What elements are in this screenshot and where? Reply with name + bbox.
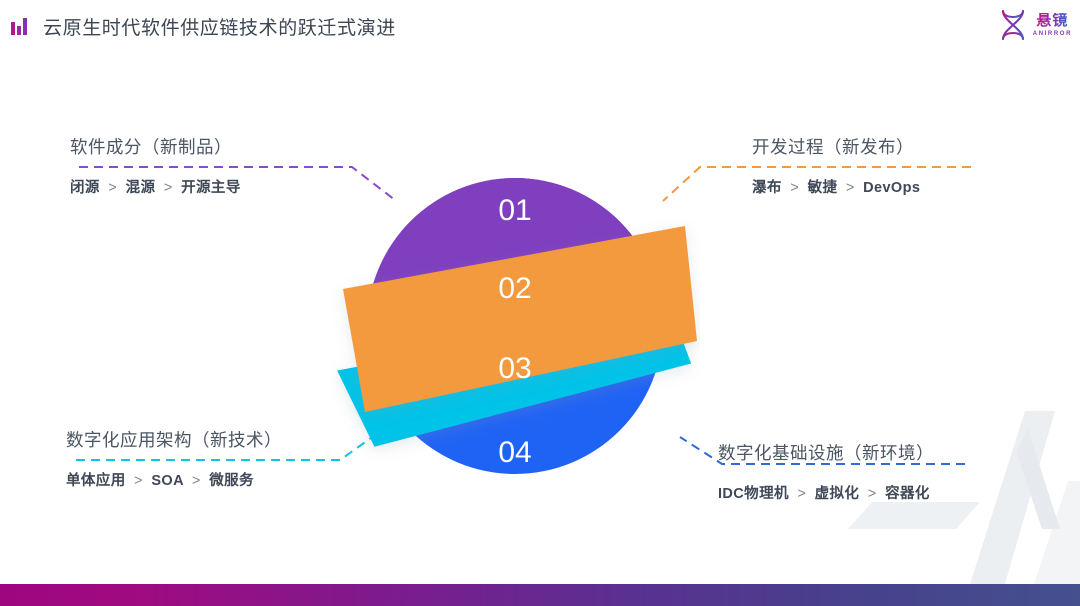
callout-bottom-right-steps: IDC物理机 > 虚拟化 > 容器化 — [718, 482, 934, 503]
callout-bottom-right-title: 数字化基础设施（新环境） — [718, 440, 934, 465]
callout-top-right[interactable]: 开发过程（新发布） 瀑布 > 敏捷 > DevOps — [752, 134, 920, 197]
step-separator-icon: > — [842, 180, 859, 196]
logo-english-name: ANIRROR — [1033, 31, 1072, 37]
step-separator-icon: > — [793, 486, 810, 502]
callout-top-left-title: 软件成分（新制品） — [70, 134, 241, 159]
step-separator-icon: > — [104, 180, 121, 196]
brand-logo: 悬镜 ANIRROR — [998, 7, 1072, 43]
callout-top-left[interactable]: 软件成分（新制品） 闭源 > 混源 > 开源主导 — [70, 134, 241, 197]
step-label: SOA — [151, 473, 183, 489]
step-separator-icon: > — [160, 180, 177, 196]
dna-butterfly-logo-icon — [998, 9, 1028, 41]
step-label: 容器化 — [885, 486, 930, 502]
bar-chart-icon — [11, 17, 33, 35]
step-separator-icon: > — [130, 473, 147, 489]
callout-bottom-right[interactable]: 数字化基础设施（新环境） IDC物理机 > 虚拟化 > 容器化 — [718, 440, 934, 503]
step-label: 混源 — [126, 180, 156, 196]
band-02-number: 02 — [498, 272, 531, 305]
step-label: 单体应用 — [66, 473, 126, 489]
step-separator-icon: > — [786, 180, 803, 196]
band-03-number: 03 — [498, 352, 531, 385]
step-label: 闭源 — [70, 180, 100, 196]
band-01-number: 01 — [498, 194, 531, 227]
step-label: DevOps — [863, 180, 920, 196]
step-label: 开源主导 — [181, 180, 241, 196]
logo-wordmark: 悬镜 ANIRROR — [1033, 13, 1072, 37]
callout-bottom-left-steps: 单体应用 > SOA > 微服务 — [66, 469, 282, 490]
step-label: 敏捷 — [808, 180, 838, 196]
step-label: 微服务 — [209, 473, 254, 489]
band-04-number: 04 — [498, 436, 531, 469]
step-separator-icon: > — [188, 473, 205, 489]
four-band-circle-diagram: 01 02 03 04 — [330, 150, 700, 500]
callout-top-left-steps: 闭源 > 混源 > 开源主导 — [70, 176, 241, 197]
callout-top-right-steps: 瀑布 > 敏捷 > DevOps — [752, 176, 920, 197]
slide-header: 云原生时代软件供应链技术的跃迁式演进 — [0, 0, 1080, 52]
callout-bottom-left-title: 数字化应用架构（新技术） — [66, 427, 282, 452]
page-title: 云原生时代软件供应链技术的跃迁式演进 — [43, 13, 396, 40]
logo-chinese-name: 悬镜 — [1036, 13, 1068, 28]
step-label: IDC物理机 — [718, 486, 789, 502]
callout-bottom-left[interactable]: 数字化应用架构（新技术） 单体应用 > SOA > 微服务 — [66, 427, 282, 490]
slide-canvas: 云原生时代软件供应链技术的跃迁式演进 悬镜 ANIRROR — [0, 0, 1080, 606]
step-label: 虚拟化 — [815, 486, 860, 502]
step-separator-icon: > — [864, 486, 881, 502]
footer-bar — [0, 584, 1080, 606]
step-label: 瀑布 — [752, 180, 782, 196]
callout-top-right-title: 开发过程（新发布） — [752, 134, 920, 159]
